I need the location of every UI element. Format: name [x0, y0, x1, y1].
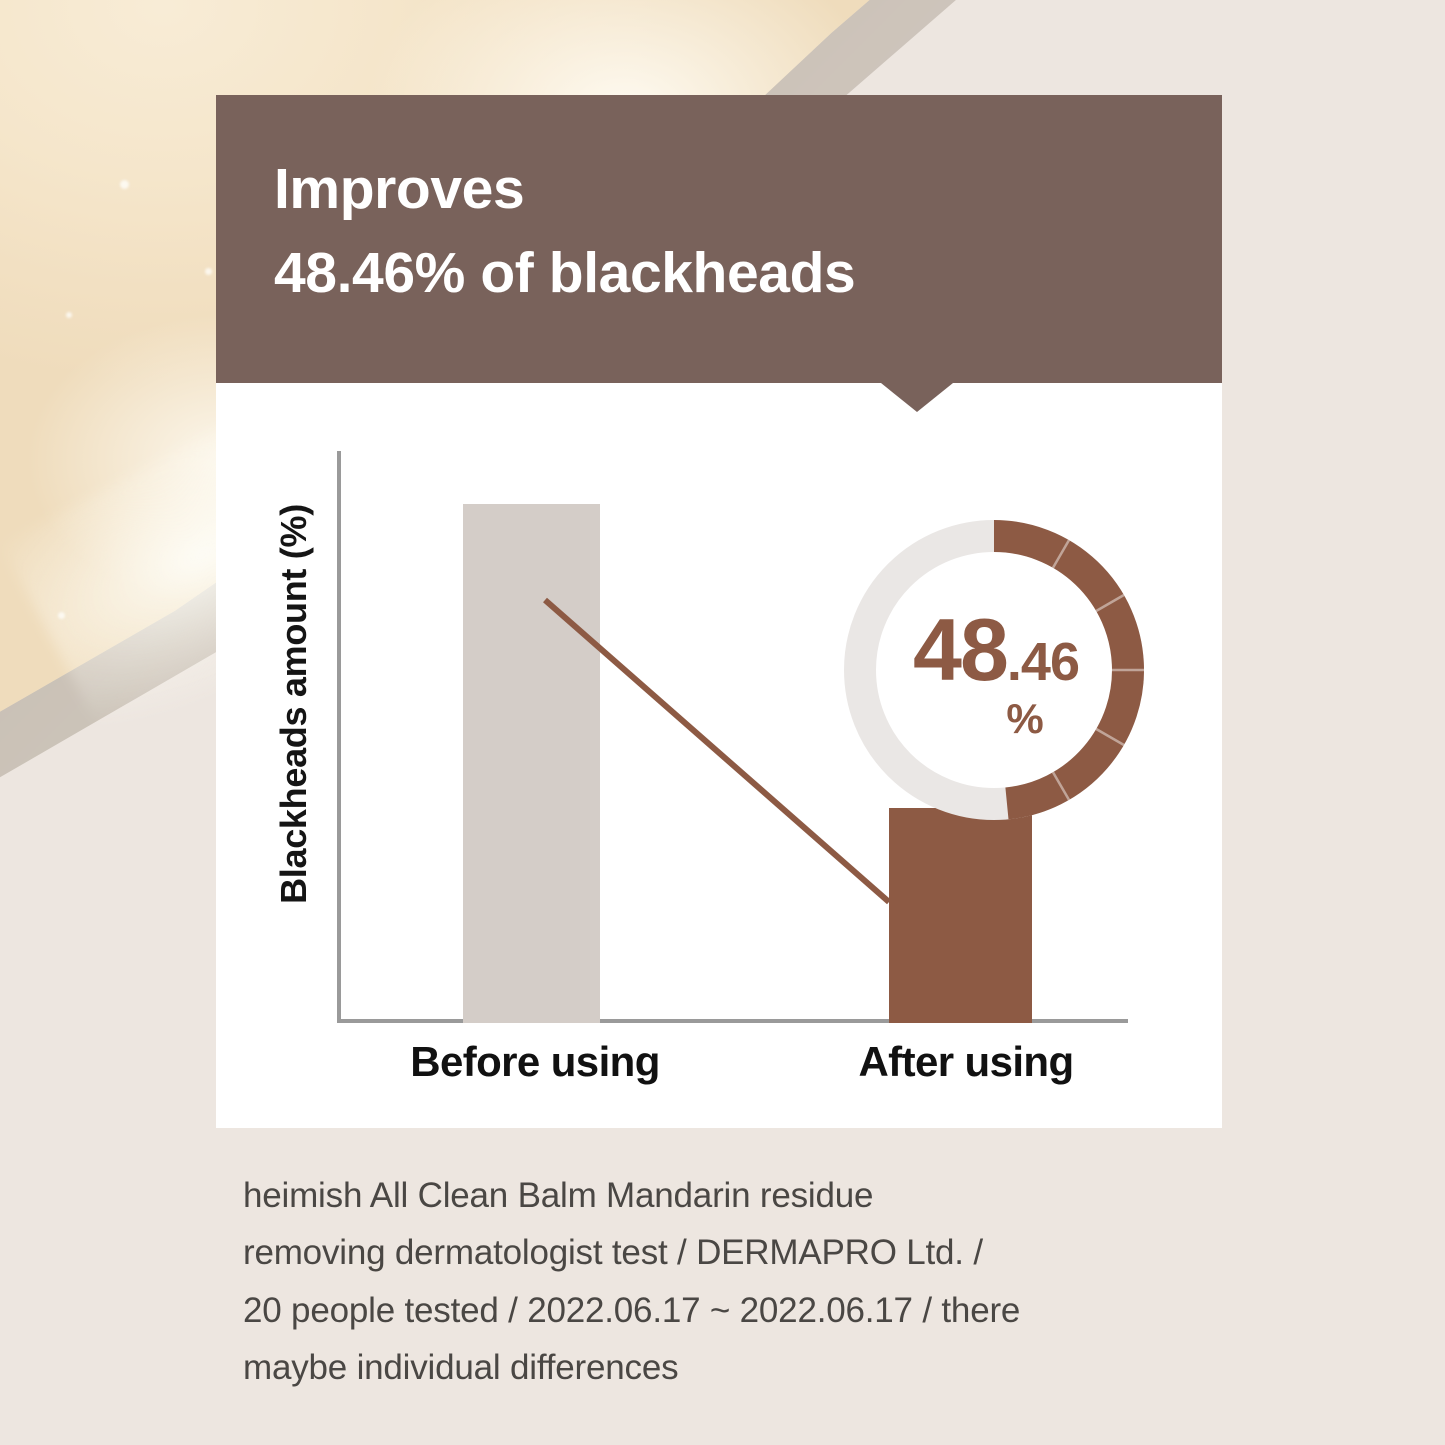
bar-after-using: [889, 808, 1032, 1023]
caption-line: maybe individual differences: [243, 1339, 1203, 1396]
headline-line-2: 48.46% of blackheads: [274, 231, 1182, 315]
balm-speck: [66, 312, 72, 318]
bar-before-using: [463, 504, 600, 1023]
caption-line: removing dermatologist test / DERMAPRO L…: [243, 1224, 1203, 1281]
headline-line-1: Improves: [274, 147, 1182, 231]
caption-line: 20 people tested / 2022.06.17 ~ 2022.06.…: [243, 1282, 1203, 1339]
promo-infographic: Improves 48.46% of blackheads Blackheads…: [0, 0, 1445, 1445]
x-tick-label-after: After using: [801, 1038, 1131, 1086]
infographic-card: Improves 48.46% of blackheads Blackheads…: [216, 95, 1222, 1128]
y-axis-label: Blackheads amount (%): [273, 474, 315, 934]
percentage-gauge: 48 .46 %: [844, 520, 1144, 820]
caption-line: heimish All Clean Balm Mandarin residue: [243, 1167, 1203, 1224]
balm-speck: [205, 268, 212, 275]
chart-region: Blackheads amount (%) Before using After…: [216, 383, 1222, 1128]
x-tick-label-before: Before using: [370, 1038, 700, 1086]
y-axis-line: [337, 451, 341, 1023]
headline-text-block: Improves 48.46% of blackheads: [274, 147, 1182, 316]
gauge-fill-arc: [994, 536, 1128, 803]
gauge-svg: [844, 520, 1144, 820]
test-disclaimer-caption: heimish All Clean Balm Mandarin residue …: [243, 1167, 1203, 1397]
balm-speck: [120, 180, 129, 189]
headline-banner: Improves 48.46% of blackheads: [216, 95, 1222, 383]
balm-speck: [58, 612, 65, 619]
